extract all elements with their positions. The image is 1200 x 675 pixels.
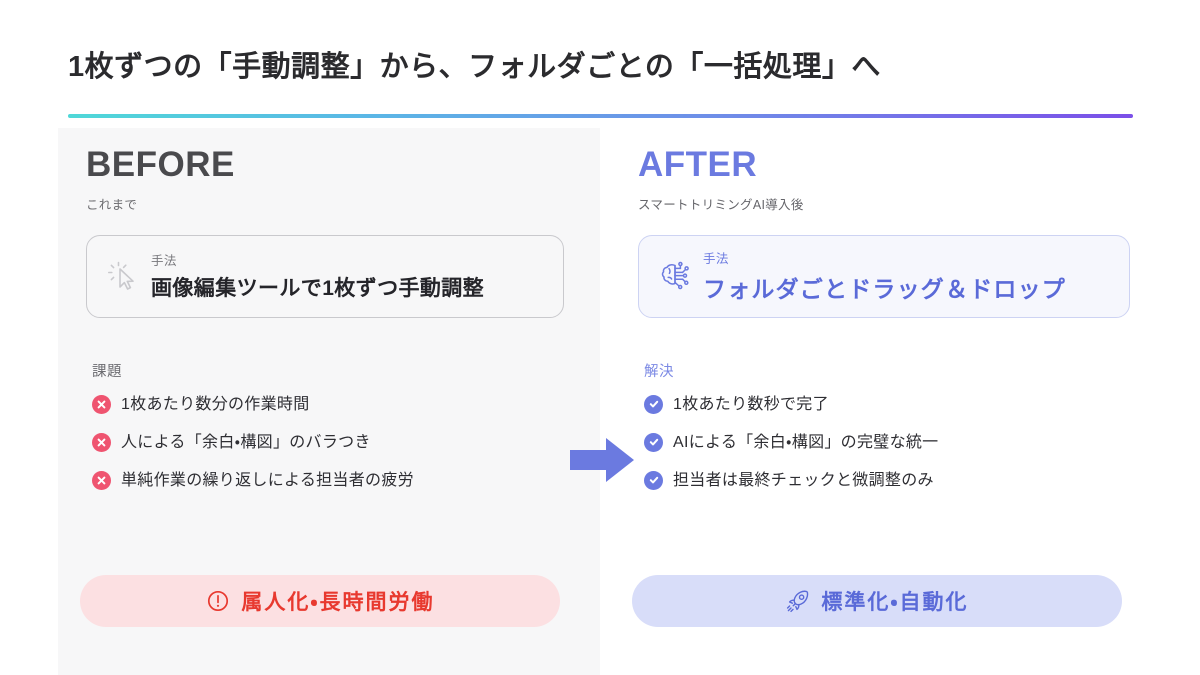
after-list-block: 解決 1枚あたり数秒で完了 AIによる「余白・構図	[638, 360, 1130, 491]
after-panel: AFTER スマートトリミングAI導入後	[618, 128, 1160, 675]
rocket-icon	[785, 588, 811, 614]
before-list-title: 課題	[92, 360, 564, 381]
before-summary-pill: 属人化・長時間労働	[80, 575, 560, 627]
cursor-click-icon	[101, 253, 147, 299]
comparison-columns: BEFORE これまで 手法 画像編集ツールで1枚ずつ手動調整	[0, 128, 1200, 675]
before-list-block: 課題 1枚あたり数分の作業時間 人による「余白・構	[86, 360, 564, 491]
list-item: 1枚あたり数分の作業時間	[92, 395, 564, 414]
list-item-text: 1枚あたり数秒で完了	[673, 395, 829, 414]
before-method-label: 手法	[151, 250, 484, 269]
ai-brain-circuit-icon	[653, 253, 699, 299]
list-item: 1枚あたり数秒で完了	[644, 395, 1130, 414]
before-subtitle: これまで	[86, 194, 564, 213]
check-circle-icon	[644, 433, 663, 452]
list-item: 担当者は最終チェックと微調整のみ	[644, 471, 1130, 490]
list-item-text: 1枚あたり数分の作業時間	[121, 395, 310, 414]
after-method-label: 手法	[703, 248, 1066, 267]
after-list-title: 解決	[644, 360, 1130, 381]
after-method-value: フォルダごとドラッグ＆ドロップ	[703, 270, 1066, 304]
title-block: 1枚ずつの「手動調整」から、フォルダごとの「一括処理」へ	[68, 48, 1138, 87]
list-item: 単純作業の繰り返しによる担当者の疲労	[92, 471, 564, 490]
x-circle-icon	[92, 471, 111, 490]
page-title: 1枚ずつの「手動調整」から、フォルダごとの「一括処理」へ	[68, 48, 1138, 87]
after-method-text: 手法 フォルダごとドラッグ＆ドロップ	[703, 248, 1066, 304]
x-circle-icon	[92, 395, 111, 414]
check-circle-icon	[644, 395, 663, 414]
x-circle-icon	[92, 433, 111, 452]
after-subtitle: スマートトリミングAI導入後	[638, 194, 1130, 213]
list-item-text: 人による「余白・構図」のバラつき	[121, 433, 371, 452]
before-panel: BEFORE これまで 手法 画像編集ツールで1枚ずつ手動調整	[58, 128, 600, 675]
title-gradient-rule	[68, 114, 1133, 118]
before-pill-text: 属人化・長時間労働	[241, 586, 434, 616]
after-pill-text: 標準化・自動化	[821, 586, 968, 616]
list-item-text: 単純作業の繰り返しによる担当者の疲労	[121, 471, 414, 490]
after-method-card: 手法 フォルダごとドラッグ＆ドロップ	[638, 235, 1130, 318]
before-heading: BEFORE	[86, 146, 564, 185]
list-item-text: 担当者は最終チェックと微調整のみ	[673, 471, 934, 490]
list-item-text: AIによる「余白・構図」の完璧な統一	[673, 433, 938, 452]
before-method-value: 画像編集ツールで1枚ずつ手動調整	[151, 272, 484, 302]
after-summary-pill: 標準化・自動化	[632, 575, 1122, 627]
list-item: AIによる「余白・構図」の完璧な統一	[644, 433, 1130, 452]
after-heading: AFTER	[638, 146, 1130, 185]
slide-root: 1枚ずつの「手動調整」から、フォルダごとの「一括処理」へ BEFORE これまで	[0, 0, 1200, 675]
warning-circle-icon	[205, 588, 231, 614]
before-method-card: 手法 画像編集ツールで1枚ずつ手動調整	[86, 235, 564, 318]
arrow-right-icon	[568, 432, 638, 488]
check-circle-icon	[644, 471, 663, 490]
before-method-text: 手法 画像編集ツールで1枚ずつ手動調整	[151, 250, 484, 302]
list-item: 人による「余白・構図」のバラつき	[92, 433, 564, 452]
